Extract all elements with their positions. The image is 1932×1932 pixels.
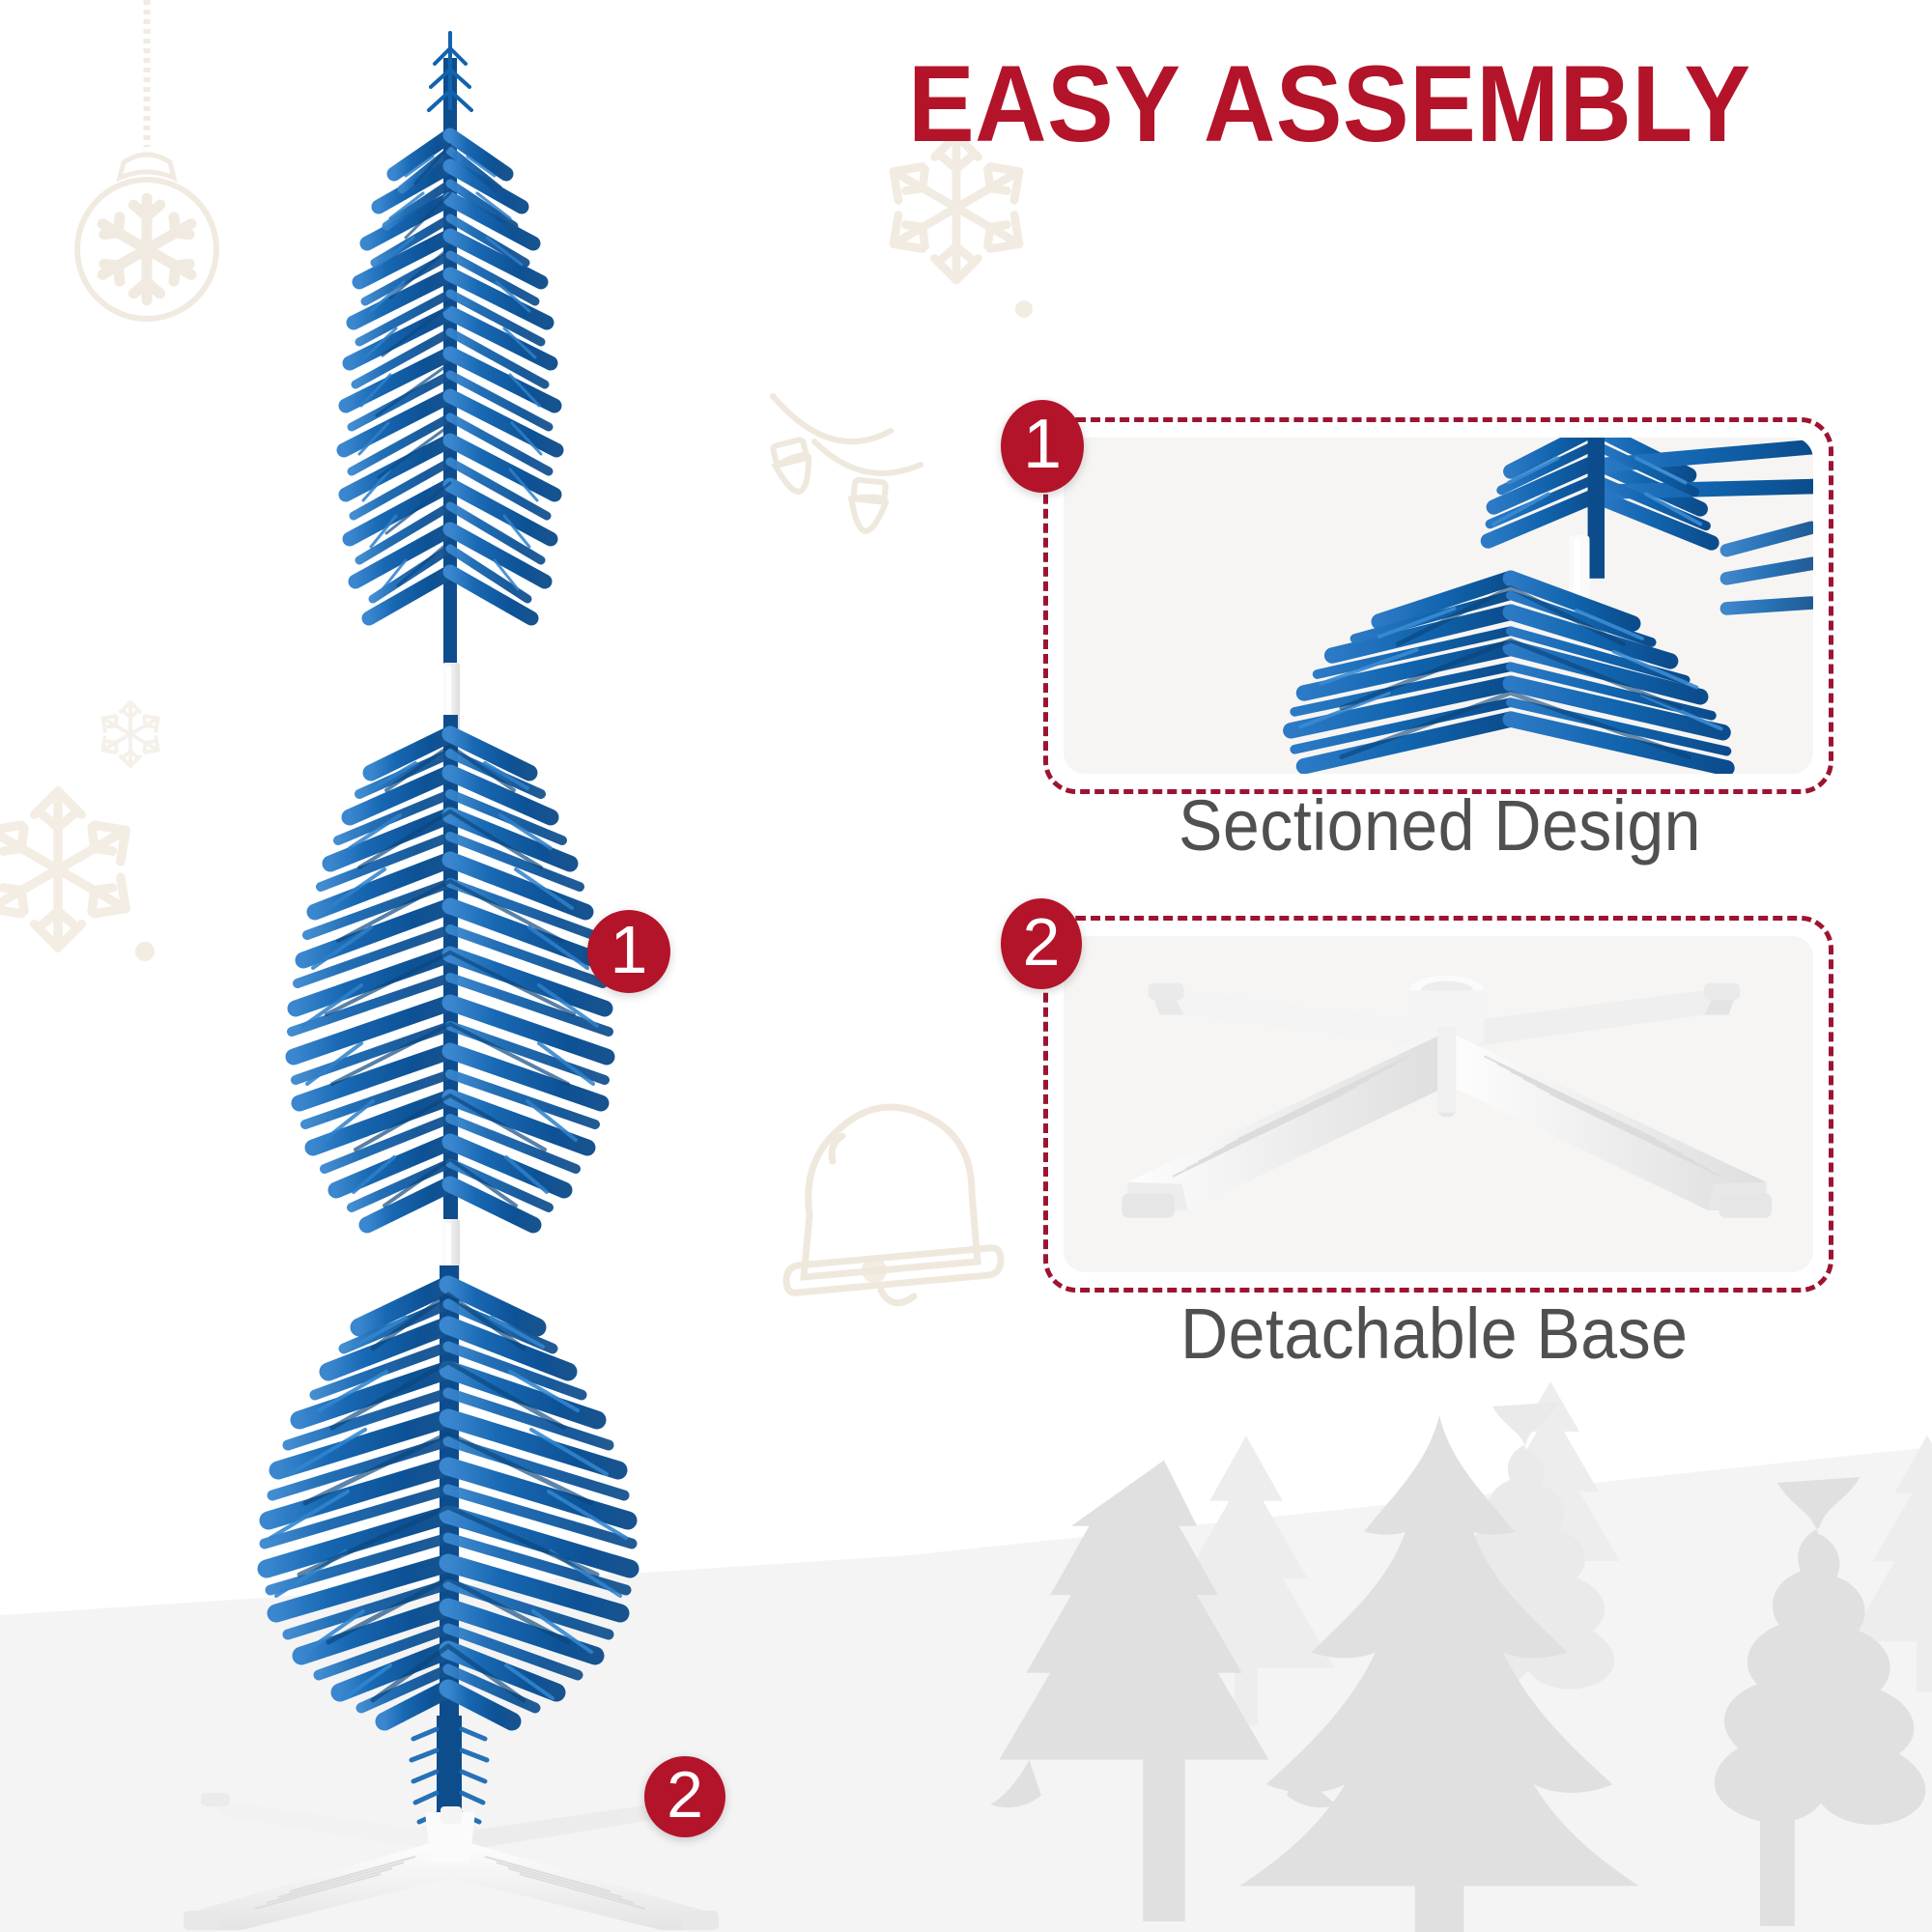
feature-card-2-badge[interactable]: 2 bbox=[1001, 898, 1082, 989]
tree-marker-1[interactable]: 1 bbox=[587, 910, 670, 993]
tree-section-middle bbox=[292, 715, 609, 1256]
product-marketing-image: EASY ASSEMBLY bbox=[0, 0, 1932, 1932]
tree-marker-2-label: 2 bbox=[667, 1757, 703, 1833]
sectioned-design-photo bbox=[1064, 438, 1813, 774]
tree-marker-2[interactable]: 2 bbox=[644, 1756, 725, 1837]
feature-card-2-caption: Detachable Base bbox=[1180, 1293, 1688, 1375]
product-photo-tree bbox=[0, 0, 908, 1932]
tree-section-top bbox=[344, 33, 556, 686]
page-title: EASY ASSEMBLY bbox=[908, 50, 1824, 158]
pine-silhouette-fluffy-back bbox=[1439, 1402, 1614, 1766]
tree-marker-1-label: 1 bbox=[611, 911, 648, 988]
feature-card-1-badge[interactable]: 1 bbox=[1001, 400, 1084, 493]
feature-card-2-badge-label: 2 bbox=[1023, 903, 1061, 980]
snow-ground-right bbox=[908, 1447, 1932, 1932]
detachable-base-photo bbox=[1064, 936, 1813, 1272]
feature-card-sectioned-design[interactable] bbox=[1043, 417, 1833, 794]
feature-card-2-photo-frame bbox=[1064, 936, 1813, 1272]
feature-card-1-caption: Sectioned Design bbox=[1179, 784, 1701, 867]
tree-section-bottom bbox=[265, 1265, 632, 1837]
feature-card-detachable-base[interactable] bbox=[1043, 916, 1833, 1293]
feature-card-1-badge-label: 1 bbox=[1023, 405, 1062, 484]
feature-card-1-photo-frame bbox=[1064, 438, 1813, 774]
pine-silhouette-group-front bbox=[990, 1415, 1925, 1932]
dot-decor-1 bbox=[1015, 300, 1033, 318]
tree-stand bbox=[184, 1793, 719, 1930]
pine-silhouette-group-back bbox=[1157, 1381, 1932, 1725]
